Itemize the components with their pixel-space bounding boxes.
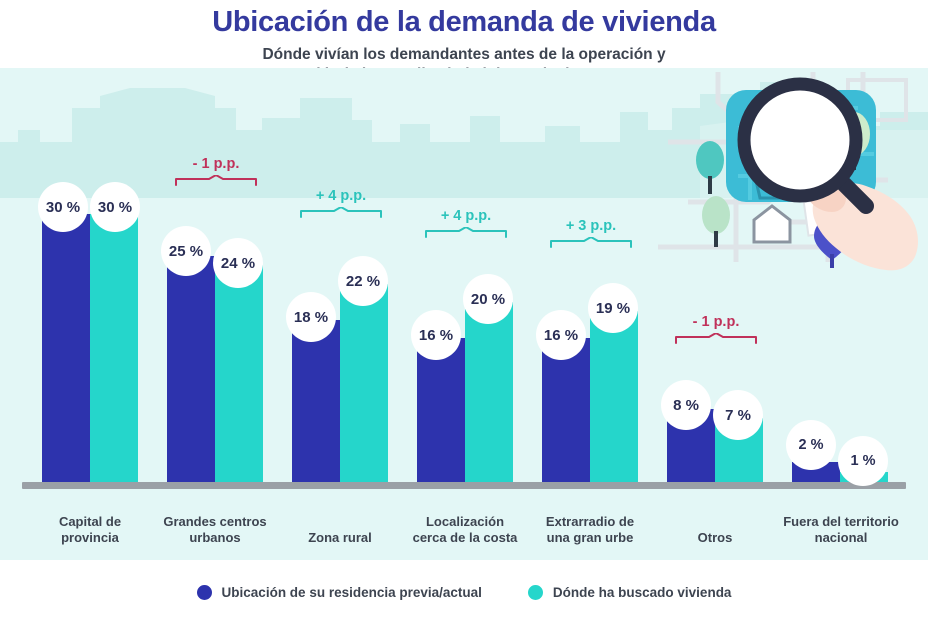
pp-bracket-icon bbox=[425, 227, 507, 239]
legend-label: Dónde ha buscado vivienda bbox=[553, 585, 732, 600]
category-label-localizacion-cerca-de-la-costa: Localización cerca de la costa bbox=[398, 514, 532, 546]
category-label-zona-rural: Zona rural bbox=[280, 530, 400, 546]
category-line-2: provincia bbox=[30, 530, 150, 546]
pp-label: + 4 p.p. bbox=[425, 208, 507, 224]
pp-label: + 4 p.p. bbox=[300, 188, 382, 204]
category-line-1: Capital de bbox=[30, 514, 150, 530]
category-label-otros: Otros bbox=[655, 530, 775, 546]
value-bubble-previous: 25 % bbox=[161, 226, 211, 276]
bar-searched[interactable] bbox=[215, 265, 263, 482]
chart-baseline bbox=[22, 482, 906, 489]
legend-item-searched-location[interactable]: Dónde ha buscado vivienda bbox=[528, 585, 732, 600]
value-bubble-previous: 8 % bbox=[661, 380, 711, 430]
pp-bracket-icon bbox=[550, 237, 632, 249]
category-line-2: nacional bbox=[768, 530, 914, 546]
value-bubble-searched: 7 % bbox=[713, 390, 763, 440]
pp-bracket-icon bbox=[675, 333, 757, 345]
bar-group-extrarradio-de-una-gran-urbe: 16 % 19 % + 3 p.p. bbox=[542, 146, 638, 482]
value-bubble-previous: 16 % bbox=[411, 310, 461, 360]
category-line-2: urbanos bbox=[148, 530, 282, 546]
bar-searched[interactable] bbox=[465, 302, 513, 482]
value-bubble-previous: 2 % bbox=[786, 420, 836, 470]
category-line-1: Localización bbox=[398, 514, 532, 530]
value-bubble-previous: 16 % bbox=[536, 310, 586, 360]
category-label-extrarradio-de-una-gran-urbe: Extrarradio de una gran urbe bbox=[524, 514, 656, 546]
bar-group-otros: 8 % 7 % - 1 p.p. bbox=[667, 146, 763, 482]
pp-bracket-icon bbox=[300, 207, 382, 219]
category-label-capital-de-provincia: Capital de provincia bbox=[30, 514, 150, 546]
legend-swatch-icon bbox=[197, 585, 212, 600]
legend-swatch-icon bbox=[528, 585, 543, 600]
category-label-fuera-del-territorio-nacional: Fuera del territorio nacional bbox=[768, 514, 914, 546]
subtitle-line-1: Dónde vivían los demandantes antes de la… bbox=[0, 45, 928, 65]
category-line-1: Zona rural bbox=[280, 530, 400, 546]
category-line-2: cerca de la costa bbox=[398, 530, 532, 546]
category-line-1: Otros bbox=[655, 530, 775, 546]
bar-chart: 30 % 30 % 25 % 24 % - 1 p.p. bbox=[0, 68, 928, 560]
infographic-root: Ubicación de la demanda de vivienda Dónd… bbox=[0, 0, 928, 621]
value-bubble-searched: 1 % bbox=[838, 436, 888, 486]
value-bubble-searched: 30 % bbox=[90, 182, 140, 232]
bar-group-zona-rural: 18 % 22 % + 4 p.p. bbox=[292, 146, 388, 482]
category-line-1: Fuera del territorio bbox=[768, 514, 914, 530]
bar-group-grandes-centros-urbanos: 25 % 24 % - 1 p.p. bbox=[167, 146, 263, 482]
value-bubble-searched: 19 % bbox=[588, 283, 638, 333]
page-title: Ubicación de la demanda de vivienda bbox=[0, 6, 928, 39]
category-line-1: Extrarradio de bbox=[524, 514, 656, 530]
bar-group-capital-de-provincia: 30 % 30 % bbox=[42, 146, 138, 482]
bar-searched[interactable] bbox=[90, 214, 138, 482]
pp-label: - 1 p.p. bbox=[175, 156, 257, 172]
bar-previous[interactable] bbox=[292, 320, 340, 482]
bar-previous[interactable] bbox=[417, 338, 465, 482]
value-bubble-previous: 18 % bbox=[286, 292, 336, 342]
bar-searched[interactable] bbox=[590, 311, 638, 482]
chart-legend: Ubicación de su residencia previa/actual… bbox=[0, 585, 928, 600]
legend-label: Ubicación de su residencia previa/actual bbox=[222, 585, 482, 600]
bar-group-fuera-del-territorio-nacional: 2 % 1 % bbox=[792, 146, 888, 482]
value-bubble-searched: 22 % bbox=[338, 256, 388, 306]
pp-label: - 1 p.p. bbox=[675, 314, 757, 330]
pp-bracket-icon bbox=[175, 175, 257, 187]
bar-previous[interactable] bbox=[542, 338, 590, 482]
value-bubble-searched: 20 % bbox=[463, 274, 513, 324]
bar-searched[interactable] bbox=[340, 284, 388, 482]
category-line-2: una gran urbe bbox=[524, 530, 656, 546]
pp-label: + 3 p.p. bbox=[550, 218, 632, 234]
legend-item-previous-residence[interactable]: Ubicación de su residencia previa/actual bbox=[197, 585, 482, 600]
value-bubble-searched: 24 % bbox=[213, 238, 263, 288]
category-line-1: Grandes centros bbox=[148, 514, 282, 530]
value-bubble-previous: 30 % bbox=[38, 182, 88, 232]
bar-group-localizacion-cerca-de-la-costa: 16 % 20 % + 4 p.p. bbox=[417, 146, 513, 482]
bar-previous[interactable] bbox=[42, 214, 90, 482]
category-label-grandes-centros-urbanos: Grandes centros urbanos bbox=[148, 514, 282, 546]
bar-previous[interactable] bbox=[167, 256, 215, 482]
